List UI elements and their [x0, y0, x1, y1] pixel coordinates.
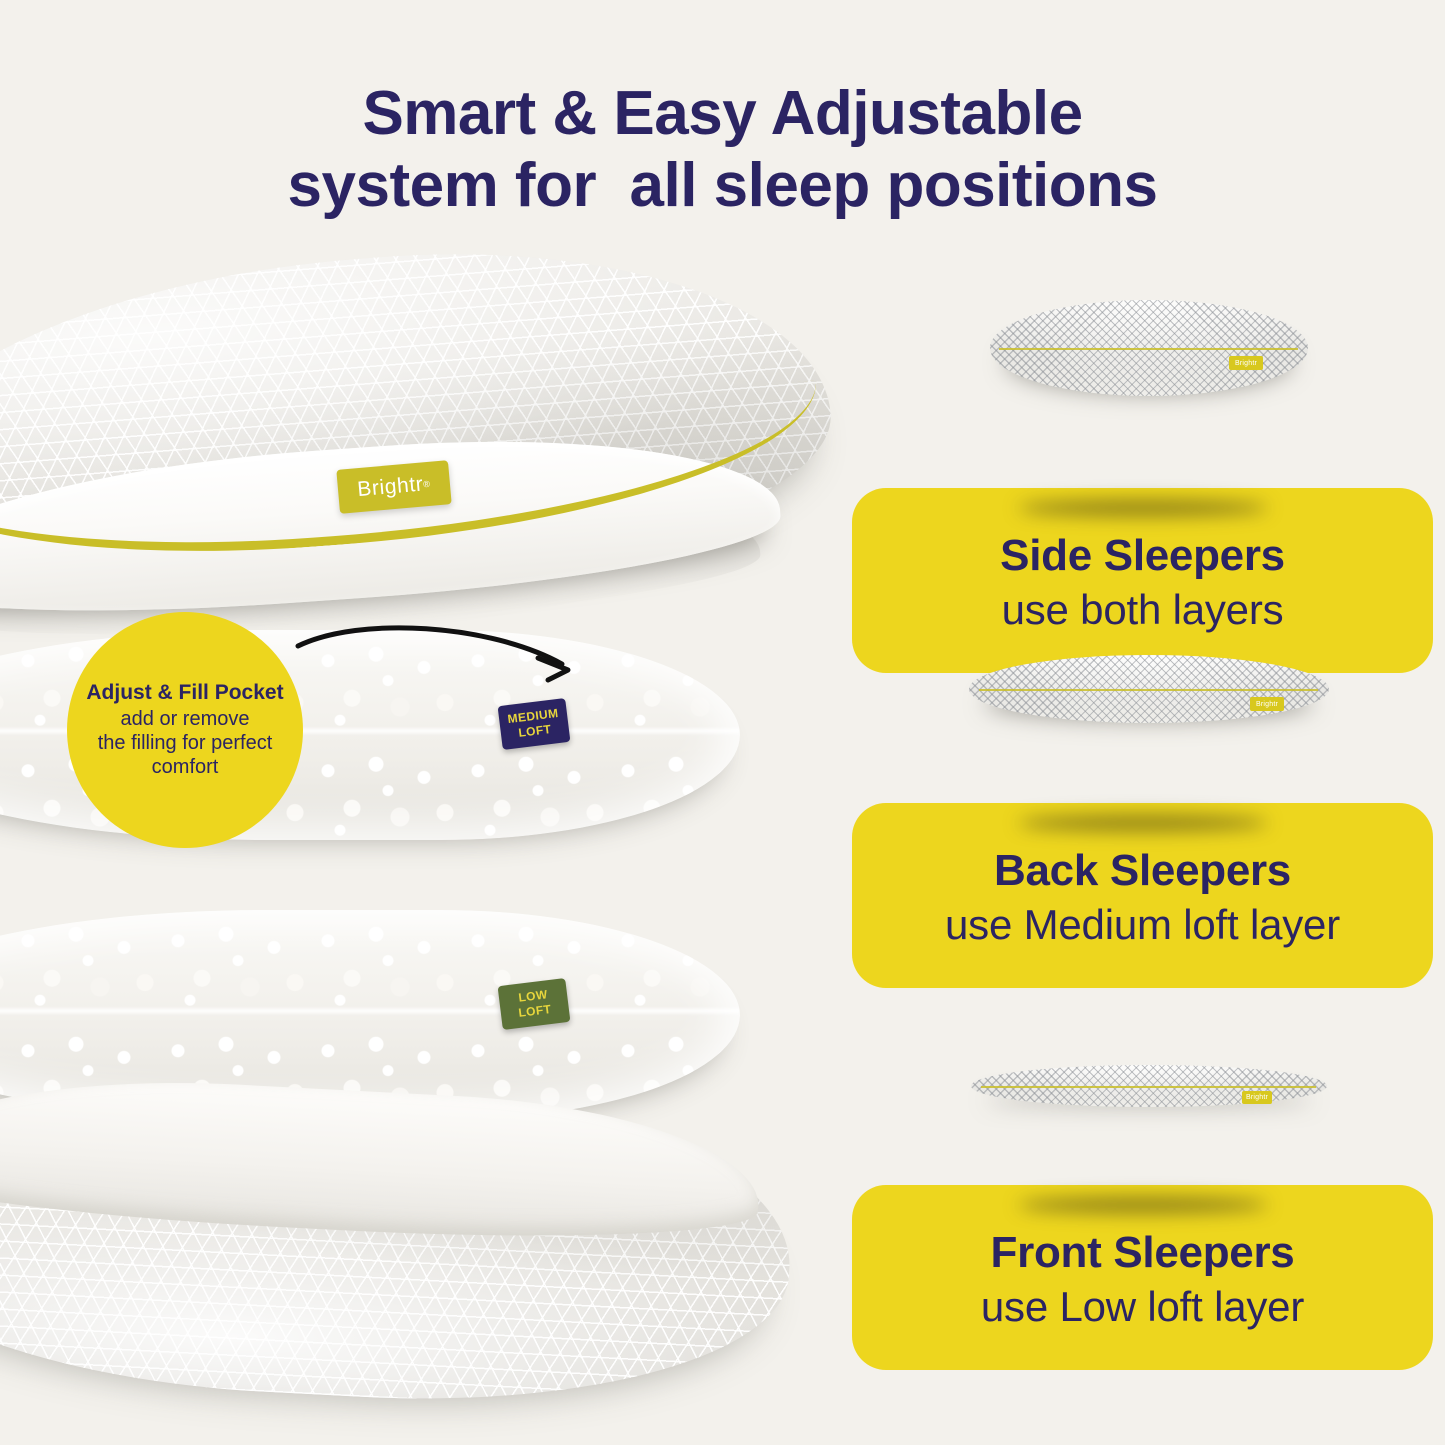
- thumb-brand-tag: Brightr: [1250, 697, 1284, 711]
- fill-callout-body-line-3: comfort: [152, 756, 219, 780]
- fill-callout-body-line-1: add or remove: [121, 708, 250, 732]
- badge-subtitle: use both layers: [876, 586, 1409, 633]
- front-thumb-wrap: Brightr: [852, 1065, 1445, 1107]
- medium-loft-tag: MEDIUM LOFT: [498, 698, 571, 750]
- badge-top-shadow: [1018, 500, 1268, 516]
- top-pillow-with-cover: Brightr®: [0, 260, 830, 590]
- badge-side-sleepers[interactable]: Side Sleepers use both layers: [852, 488, 1433, 673]
- thumb-brand-tag: Brightr: [1229, 356, 1263, 370]
- pillow-side-view-both-layers: [990, 300, 1308, 396]
- adjust-fill-pocket-callout: Adjust & Fill Pocket add or remove the f…: [67, 612, 303, 848]
- pillow-exploded-illustration: Brightr® MEDIUM LOFT LOW LOFT: [0, 250, 840, 1440]
- badge-top-shadow: [1018, 1197, 1268, 1213]
- pillow-side-view-low-loft: [971, 1065, 1327, 1107]
- infographic-canvas: Smart & Easy Adjustable system for all s…: [0, 0, 1445, 1445]
- badge-back-sleepers[interactable]: Back Sleepers use Medium loft layer: [852, 803, 1433, 988]
- back-thumb-wrap: Brightr: [852, 655, 1445, 723]
- sleep-position-guide: Brightr Side Sleepers use both layers Br…: [852, 0, 1445, 1445]
- badge-subtitle: use Low loft layer: [876, 1283, 1409, 1330]
- sleep-position-back: Brightr Back Sleepers use Medium loft la…: [852, 655, 1445, 988]
- medium-loft-tag-line-2: LOFT: [518, 722, 552, 741]
- badge-title: Back Sleepers: [876, 847, 1409, 895]
- brand-trademark: ®: [423, 479, 431, 490]
- low-loft-tag-line-2: LOFT: [518, 1002, 552, 1021]
- low-loft-tag: LOW LOFT: [498, 978, 571, 1030]
- side-thumb-wrap: Brightr: [852, 300, 1445, 396]
- sleep-position-front: Brightr Front Sleepers use Low loft laye…: [852, 1065, 1445, 1370]
- badge-title: Side Sleepers: [876, 532, 1409, 580]
- thumb-brand-tag: Brightr: [1242, 1091, 1272, 1104]
- badge-subtitle: use Medium loft layer: [876, 901, 1409, 948]
- badge-top-shadow: [1018, 815, 1268, 831]
- pillow-side-view-medium-loft: [969, 655, 1329, 723]
- empty-pillow-cover: [0, 1095, 790, 1395]
- badge-front-sleepers[interactable]: Front Sleepers use Low loft layer: [852, 1185, 1433, 1370]
- fill-callout-title: Adjust & Fill Pocket: [86, 681, 283, 705]
- sleep-position-side: Brightr Side Sleepers use both layers: [852, 300, 1445, 673]
- brand-tag-label: Brightr: [356, 472, 424, 502]
- badge-title: Front Sleepers: [876, 1229, 1409, 1277]
- fill-callout-body-line-2: the filling for perfect: [98, 732, 273, 756]
